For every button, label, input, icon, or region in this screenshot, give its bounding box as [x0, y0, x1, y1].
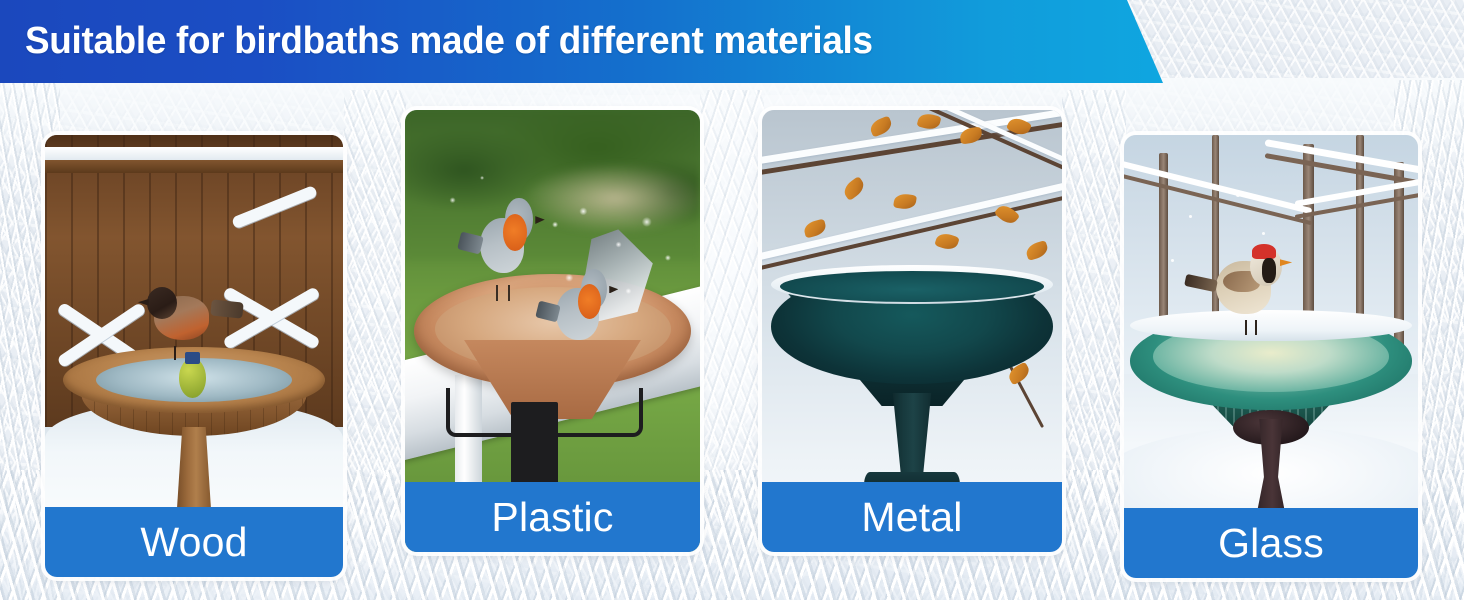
card-label-metal: Metal [762, 482, 1062, 552]
promo-banner-image: Suitable for birdbaths made of different… [0, 0, 1464, 600]
card-label-glass: Glass [1124, 508, 1418, 578]
card-label-text: Plastic [491, 494, 613, 541]
card-label-text: Metal [861, 494, 962, 541]
card-label-text: Glass [1218, 520, 1324, 567]
bird-figure [143, 285, 232, 347]
material-card-plastic: Plastic [405, 110, 700, 552]
banner-title: Suitable for birdbaths made of different… [25, 20, 873, 63]
material-card-glass: Glass [1124, 135, 1418, 578]
bird-figure [550, 269, 615, 353]
card-label-plastic: Plastic [405, 482, 700, 552]
header-banner: Suitable for birdbaths made of different… [0, 0, 1164, 83]
bird-figure [1200, 246, 1288, 321]
material-card-metal: Metal [762, 110, 1062, 552]
material-card-wood: Wood [45, 135, 343, 577]
card-label-text: Wood [140, 519, 247, 566]
card-label-wood: Wood [45, 507, 343, 577]
bird-figure [473, 198, 541, 286]
